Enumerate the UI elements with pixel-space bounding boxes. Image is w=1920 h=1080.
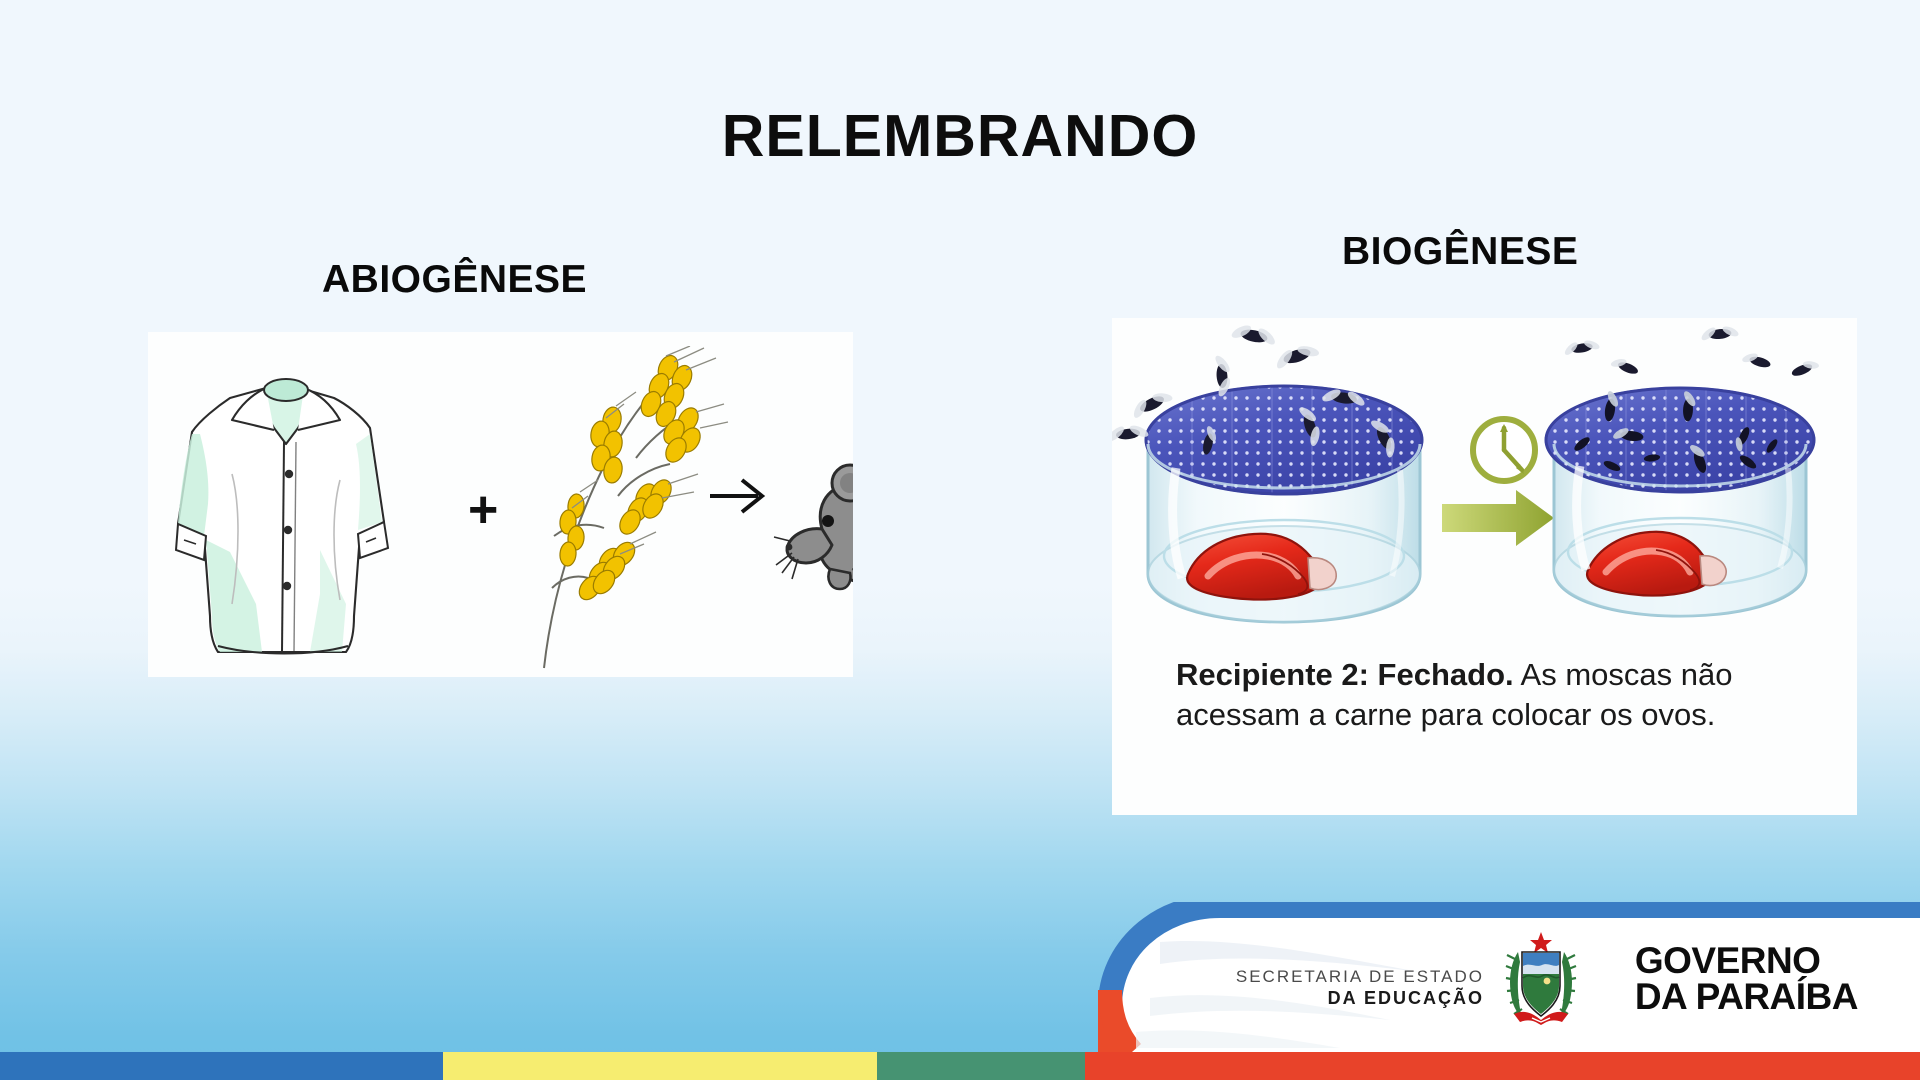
dirty-shirt-icon [170, 354, 400, 659]
color-bar-segment-green [877, 1052, 1085, 1080]
time-indicator [1442, 419, 1554, 546]
abiogenesis-figure-panel: + [148, 332, 853, 677]
slide-canvas: RELEMBRANDO ABIOGÊNESE BIOGÊNESE [0, 0, 1920, 1080]
footer-logo-block: SECRETARIA DE ESTADO DA EDUCAÇÃO [1040, 902, 1920, 1052]
section-heading-biogenese: BIOGÊNESE [1342, 230, 1578, 274]
secretaria-logo-text: SECRETARIA DE ESTADO DA EDUCAÇÃO [1236, 967, 1484, 1010]
footer-swoosh [1040, 902, 1920, 1052]
redi-experiment-illustration [1112, 318, 1857, 698]
page-title: RELEMBRANDO [0, 102, 1920, 170]
color-bar-segment-blue [0, 1052, 443, 1080]
arrow-right-icon [708, 472, 770, 520]
wheat-stalks-icon [518, 346, 733, 671]
footer-color-bar [0, 1052, 1920, 1080]
mouse-icon [766, 437, 853, 617]
governo-logo-text: GOVERNO DA PARAÍBA [1635, 943, 1858, 1016]
color-bar-segment-yellow [443, 1052, 877, 1080]
caption-bold-part: Recipiente 2: Fechado. [1176, 657, 1514, 692]
color-bar-segment-red [1085, 1052, 1920, 1080]
jar-right [1542, 386, 1822, 616]
governo-line1: GOVERNO [1635, 943, 1858, 980]
governo-line2: DA PARAÍBA [1635, 979, 1858, 1016]
plus-operator: + [468, 484, 498, 536]
biogenesis-figure-panel: Recipiente 2: Fechado. As moscas não ace… [1112, 318, 1857, 815]
section-heading-abiogenese: ABIOGÊNESE [322, 258, 587, 302]
secretaria-line2: DA EDUCAÇÃO [1236, 988, 1484, 1010]
secretaria-line1: SECRETARIA DE ESTADO [1236, 967, 1484, 988]
jar-left [1142, 384, 1432, 622]
arrow-right-icon [1442, 490, 1554, 546]
paraiba-coat-of-arms-icon [1502, 930, 1580, 1026]
figure-caption: Recipiente 2: Fechado. As moscas não ace… [1176, 655, 1827, 736]
